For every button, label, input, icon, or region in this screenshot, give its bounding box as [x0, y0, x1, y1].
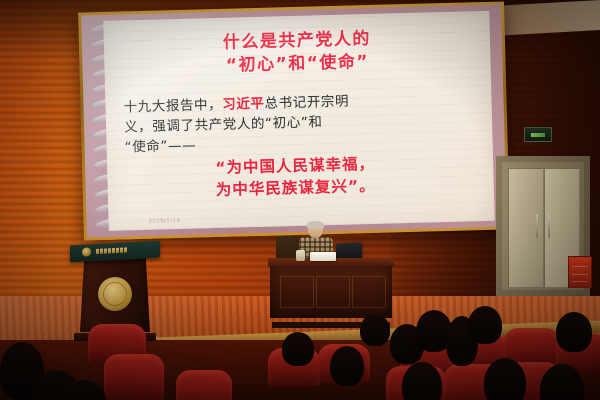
audience-head: [484, 358, 526, 400]
door-handle-right[interactable]: [548, 214, 550, 238]
slide-quote: “为中国人民谋幸福， 为中华民族谋复兴”。: [107, 151, 484, 204]
audience-seating: [0, 318, 600, 400]
slide-body-text: 十九大报告中，习近平总书记开宗明 义，强调了共产党人的“初心”和 “使命”——: [123, 89, 478, 158]
audience-head: [360, 314, 390, 346]
door-handle-left[interactable]: [536, 214, 538, 238]
seat[interactable]: [104, 354, 164, 400]
seat[interactable]: [176, 370, 232, 400]
door-leaf-left[interactable]: [508, 168, 544, 288]
slide-paper: 什么是共产党人的 “初心”和“使命” 十九大报告中，习近平总书记开宗明 义，强调…: [103, 11, 494, 231]
slide-body-line-1-a: 十九大报告中，: [123, 97, 222, 116]
lecture-hall-photo: 什么是共产党人的 “初心”和“使命” 十九大报告中，习近平总书记开宗明 义，强调…: [0, 0, 600, 400]
desk-nameplate: [310, 252, 336, 261]
desk-panel-1: [280, 276, 314, 308]
desk-panel-2: [316, 276, 350, 308]
university-crest-icon: [98, 277, 132, 311]
microphone[interactable]: [296, 250, 305, 261]
audience-head: [468, 306, 502, 344]
presenter-hair: [307, 221, 324, 228]
audience-head: [282, 332, 314, 366]
fire-extinguisher-cabinet: [568, 256, 592, 288]
lectern-plate-text: [96, 244, 154, 256]
audience-head: [330, 346, 364, 386]
exit-sign-icon: [524, 127, 552, 142]
slide-body-highlight: 习近平: [222, 96, 265, 113]
lectern-nameplate-bar: [70, 241, 160, 263]
desk-front-panel: [270, 266, 392, 318]
projection-screen: 什么是共产党人的 “初心”和“使命” 十九大报告中，习近平总书记开宗明 义，强调…: [81, 5, 507, 238]
desk-panel-3: [352, 276, 386, 308]
slide-date: 2019/5/19: [149, 218, 181, 225]
audience-head: [556, 312, 592, 352]
lectern-crest-small-icon: [82, 247, 91, 256]
slide-body-line-1-b: 总书记开宗明: [264, 94, 349, 112]
slide-title: 什么是共产党人的 “初心”和“使命”: [104, 25, 491, 81]
